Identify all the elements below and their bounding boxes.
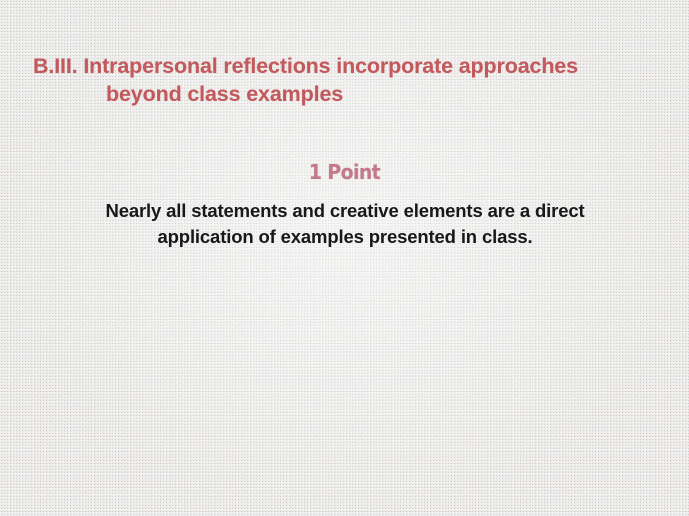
- slide-title-block: B.III. Intrapersonal reflections incorpo…: [33, 52, 647, 108]
- slide-content: B.III. Intrapersonal reflections incorpo…: [0, 0, 689, 516]
- slide-empty-content-area: [0, 265, 689, 516]
- page-title: B.III. Intrapersonal reflections incorpo…: [33, 52, 647, 108]
- criterion-description: Nearly all statements and creative eleme…: [60, 198, 630, 250]
- criterion-description-line-2: application of examples presented in cla…: [158, 226, 533, 247]
- slide-title-line-1: B.III. Intrapersonal reflections incorpo…: [33, 54, 578, 78]
- slide-title-line-2: beyond class examples: [106, 82, 343, 106]
- score-heading: 1 Point: [21, 160, 669, 184]
- presentation-slide: B.III. Intrapersonal reflections incorpo…: [0, 0, 689, 516]
- criterion-description-line-1: Nearly all statements and creative eleme…: [105, 200, 584, 221]
